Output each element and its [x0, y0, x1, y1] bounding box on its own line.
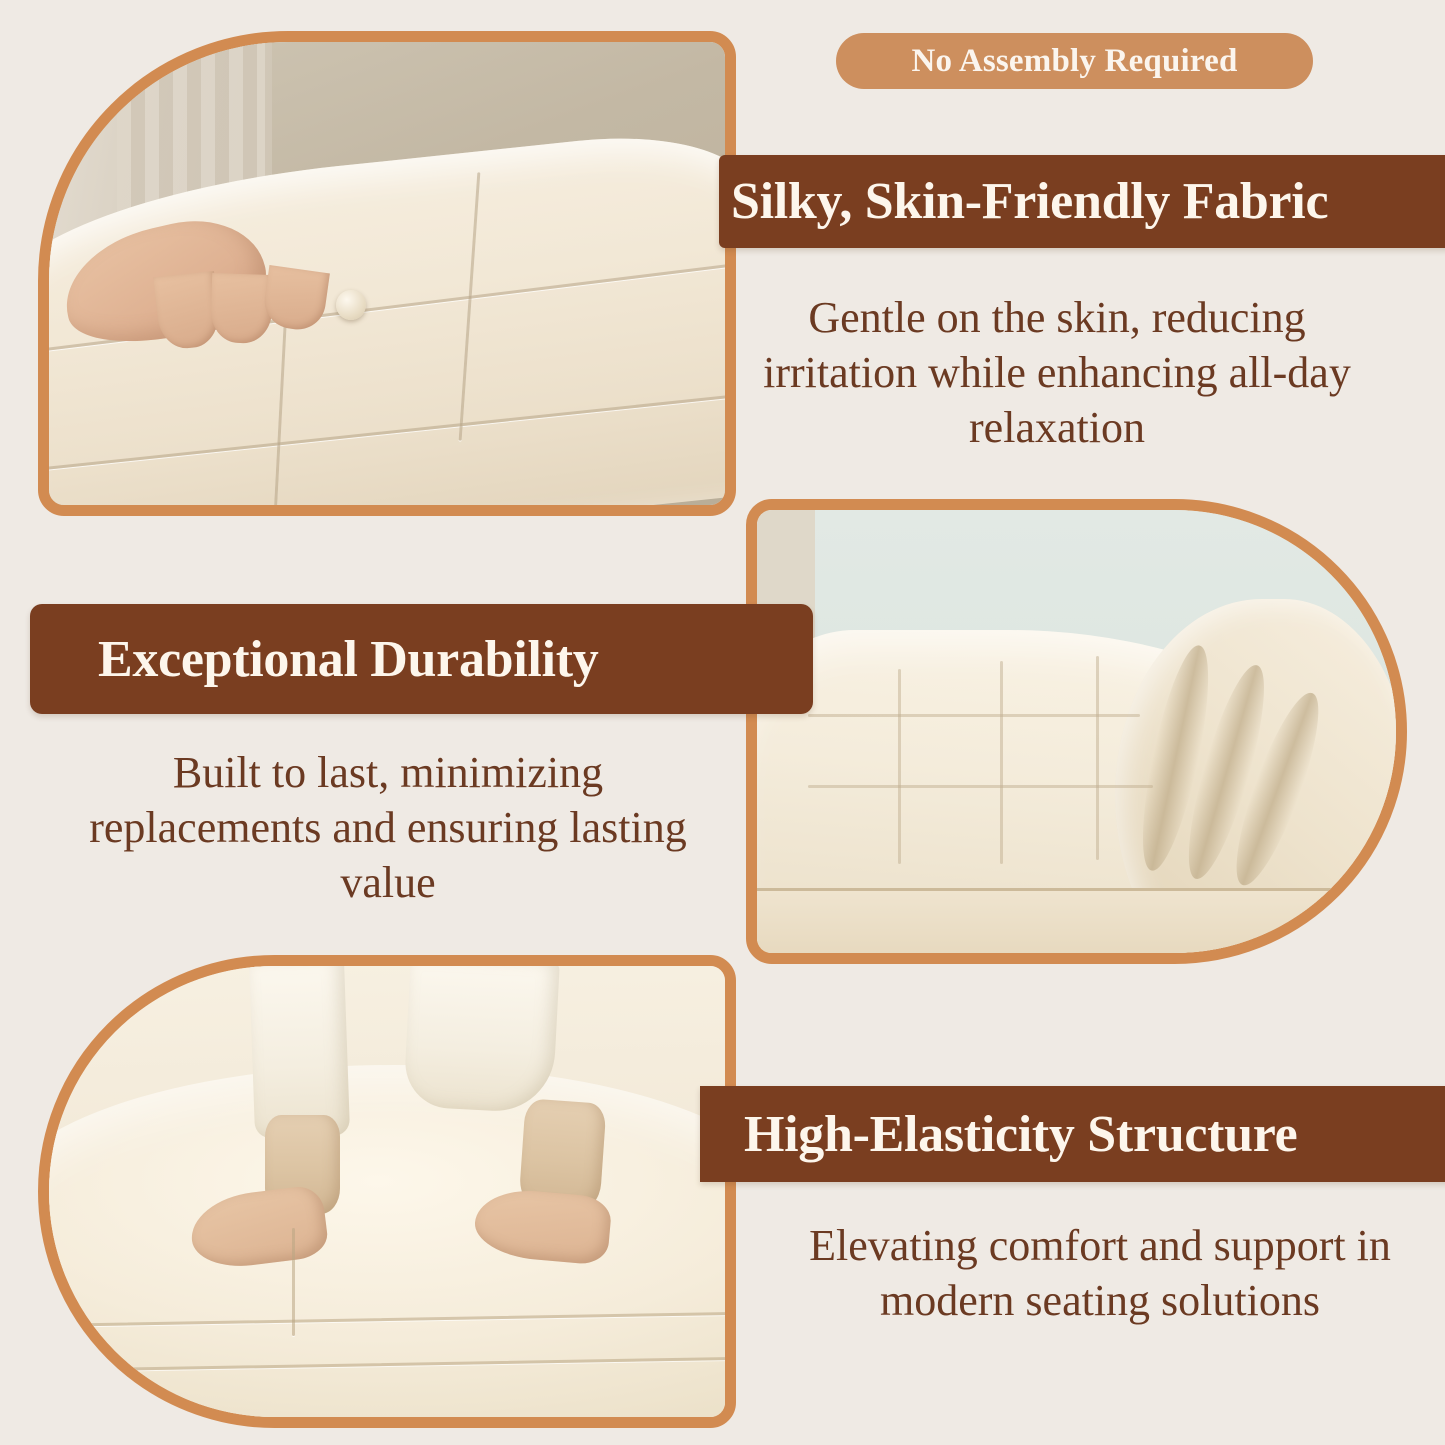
feature-heading-exceptional-durability: Exceptional Durability [30, 604, 813, 714]
feature-image-exceptional-durability [746, 499, 1407, 964]
photo-trouser-leg [403, 966, 560, 1114]
feature-heading-silky-skin-friendly-fabric: Silky, Skin-Friendly Fabric [719, 155, 1445, 248]
photo-finger [210, 272, 273, 344]
feature-heading-label: Exceptional Durability [98, 630, 598, 689]
feature-body-high-elasticity-structure: Elevating comfort and support in modern … [790, 1218, 1410, 1328]
no-assembly-required-badge: No Assembly Required [836, 33, 1313, 89]
photo-tufting-button [336, 290, 366, 320]
feature-heading-label: High-Elasticity Structure [744, 1105, 1297, 1164]
curved-sofa-back-photo [757, 510, 1396, 953]
photo-seam [1000, 661, 1003, 865]
feature-heading-high-elasticity-structure: High-Elasticity Structure [700, 1086, 1445, 1182]
photo-trouser-leg [249, 966, 350, 1139]
photo-seam [898, 669, 901, 864]
hand-pressing-cushion-photo [49, 42, 725, 505]
feet-standing-on-cushion-photo [49, 966, 725, 1417]
feature-body-silky-skin-friendly-fabric: Gentle on the skin, reducing irritation … [727, 290, 1387, 455]
feature-image-silky-skin-friendly-fabric [38, 31, 736, 516]
feature-image-high-elasticity-structure [38, 955, 736, 1428]
photo-sofa-base [757, 888, 1396, 953]
product-feature-infographic: No Assembly Required Silky, Skin-Friendl… [0, 0, 1445, 1445]
photo-seam [808, 714, 1140, 717]
feature-heading-label: Silky, Skin-Friendly Fabric [731, 172, 1328, 231]
photo-seam [292, 1228, 295, 1336]
photo-seam [808, 785, 1153, 788]
photo-seam [1096, 656, 1099, 860]
feature-body-exceptional-durability: Built to last, minimizing replacements a… [58, 745, 718, 910]
